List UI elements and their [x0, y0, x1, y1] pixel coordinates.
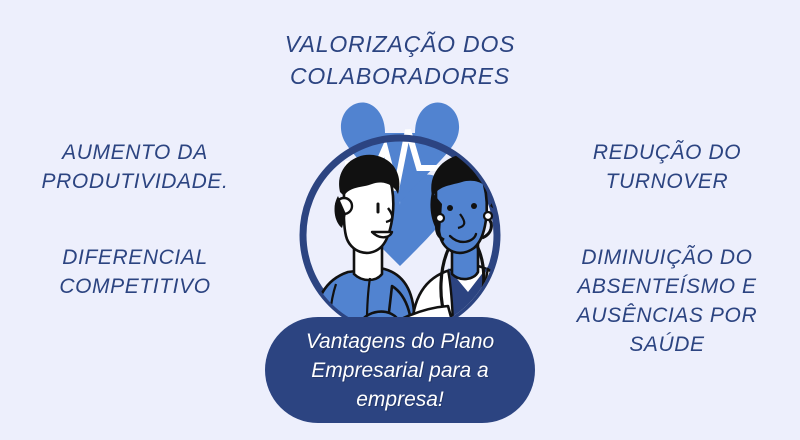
- poster-canvas: VALORIZAÇÃO DOS COLABORADORES AUMENTO DA…: [0, 0, 800, 440]
- caption-text: Vantagens do Plano Empresarial para a em…: [306, 327, 494, 414]
- benefit-label-diferencial: DIFERENCIAL COMPETITIVO: [10, 243, 260, 301]
- page-title: VALORIZAÇÃO DOS COLABORADORES: [190, 28, 610, 92]
- benefit-label-produtividade: AUMENTO DA PRODUTIVIDADE.: [10, 138, 260, 196]
- benefit-label-turnover: REDUÇÃO DO TURNOVER: [542, 138, 792, 196]
- benefit-label-absenteismo: DIMINUIÇÃO DO ABSENTEÍSMO E AUSÊNCIAS PO…: [542, 243, 792, 359]
- caption-badge: Vantagens do Plano Empresarial para a em…: [265, 317, 535, 423]
